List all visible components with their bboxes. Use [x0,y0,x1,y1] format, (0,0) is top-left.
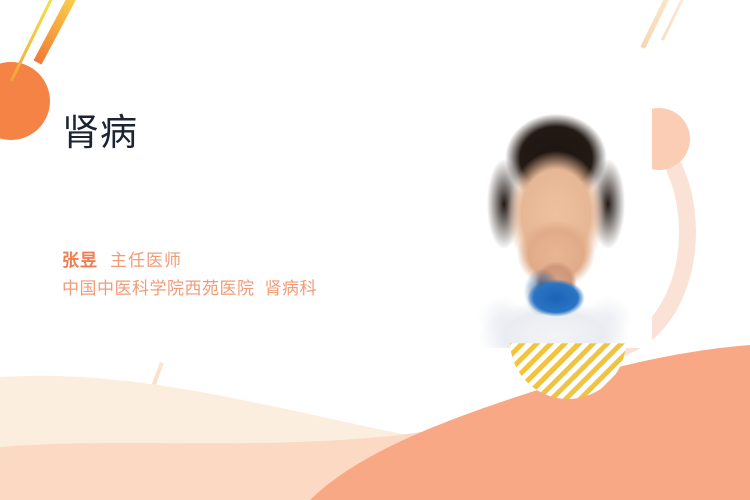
top-left-thick-stroke-icon [34,0,80,65]
speaker-job-title: 主任医师 [110,251,182,271]
speaker-portrait-group [438,86,668,376]
top-right-thin-stroke-icon [661,0,693,41]
speaker-affiliation-line: 中国中医科学院西苑医院肾病科 [62,276,462,303]
speaker-hospital: 中国中医科学院西苑医院 [62,279,255,299]
speaker-photo [456,86,652,348]
speaker-photo-image [456,86,652,348]
speaker-name-line: 张昱主任医师 [62,248,462,274]
presentation-cover-slide: 肾病 张昱主任医师 中国中医科学院西苑医院肾病科 [0,0,750,500]
wave-cream-path [0,376,750,500]
top-left-thin-stroke-icon [10,0,55,82]
speaker-byline: 张昱主任医师 中国中医科学院西苑医院肾病科 [62,248,462,304]
speaker-department: 肾病科 [265,279,318,299]
orange-circle-decoration [0,62,50,140]
bottom-left-stroke-icon [145,362,164,405]
speaker-name: 张昱 [62,251,98,271]
page-title: 肾病 [62,112,422,155]
title-block: 肾病 [62,112,422,155]
top-right-stroke-icon [640,0,676,49]
